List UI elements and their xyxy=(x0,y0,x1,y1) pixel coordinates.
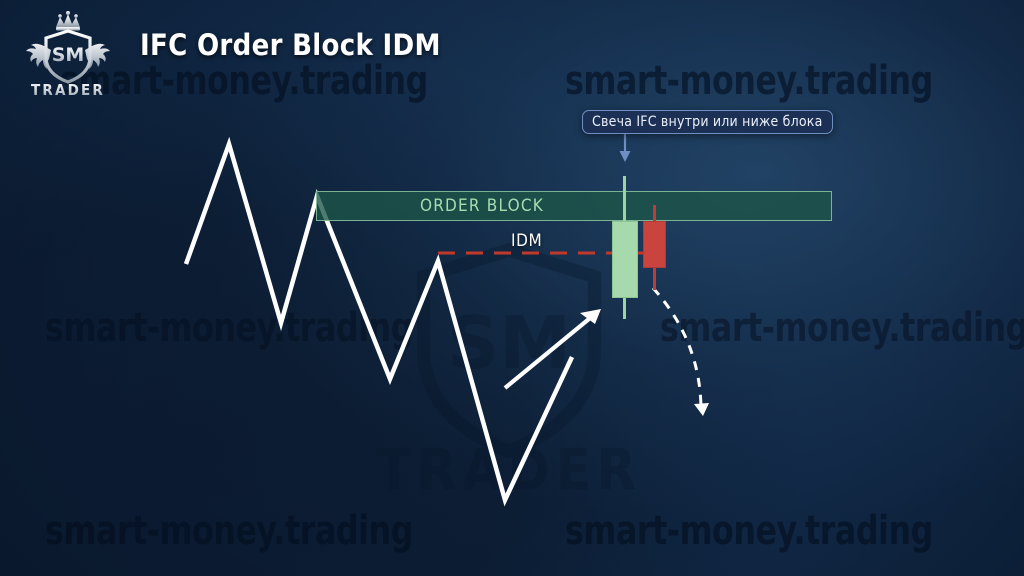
bearish-candle-body[interactable] xyxy=(643,221,666,268)
logo-wordmark: TRADER xyxy=(31,81,105,98)
bullish-candle-upper-wick xyxy=(623,176,626,223)
ifc-candle-tooltip[interactable]: Свеча IFC внутри или ниже блока xyxy=(582,110,833,134)
watermark-mid-right: smart-money.trading xyxy=(660,305,1024,351)
order-block-zone[interactable] xyxy=(316,191,832,221)
bullish-entry-arrow xyxy=(505,309,601,388)
sm-trader-logo: SM TRADER xyxy=(14,10,122,98)
watermark-top-right: smart-money.trading xyxy=(565,58,933,104)
watermark-bottom-left: smart-money.trading xyxy=(45,508,413,554)
crown-icon xyxy=(56,11,80,31)
watermark-mid-left: smart-money.trading xyxy=(45,305,413,351)
idm-label: IDM xyxy=(511,231,542,251)
bullish-candle-lower-wick xyxy=(623,297,626,319)
down-arrow-to-candle xyxy=(620,134,631,162)
tooltip-text: Свеча IFC внутри или ниже блока xyxy=(592,114,823,130)
bearish-candle-lower-wick xyxy=(653,266,656,290)
svg-text:TRADER: TRADER xyxy=(376,437,641,503)
logo-monogram: SM xyxy=(52,44,85,66)
page-title: IFC Order Block IDM xyxy=(140,28,441,62)
svg-text:SM: SM xyxy=(447,302,571,386)
order-block-label: ORDER BLOCK xyxy=(420,196,544,216)
diagram-canvas: smart-money.trading smart-money.trading … xyxy=(0,0,1024,576)
watermark-bottom-right: smart-money.trading xyxy=(565,508,933,554)
bullish-candle-body[interactable] xyxy=(612,221,638,298)
